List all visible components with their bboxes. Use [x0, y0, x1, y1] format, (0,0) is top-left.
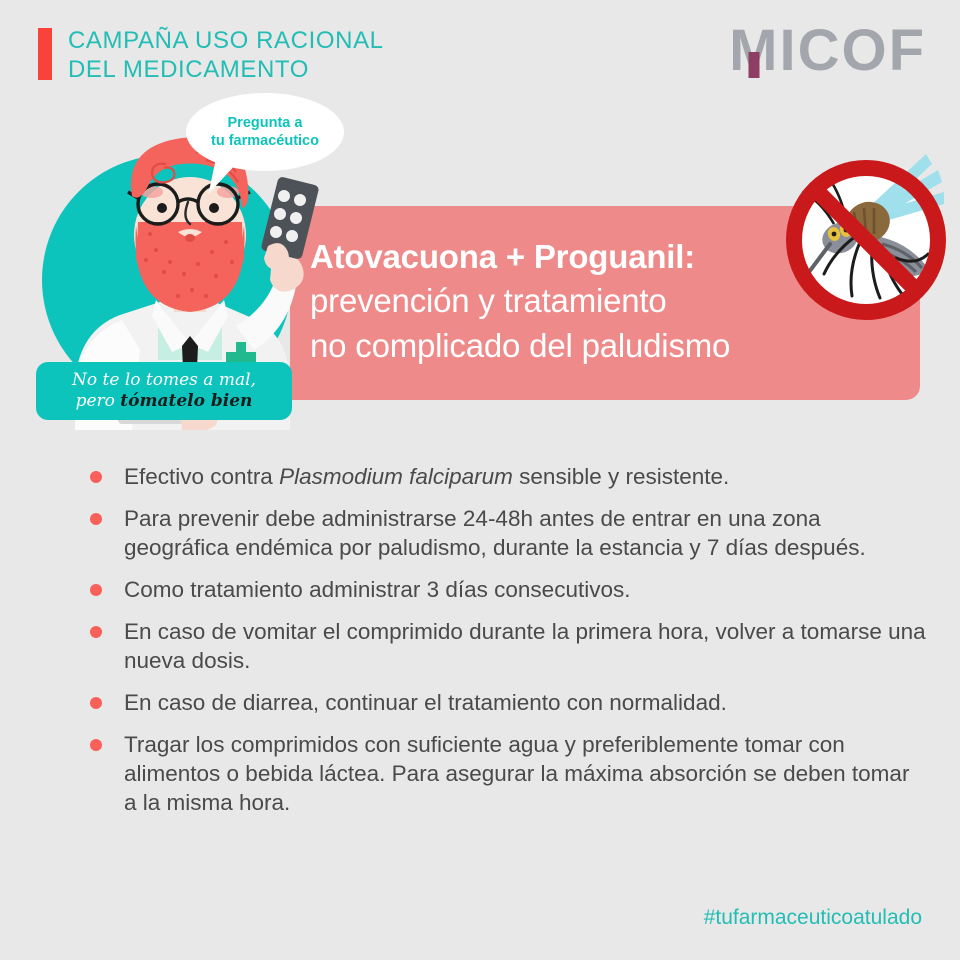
list-item: Como tratamiento administrar 3 días cons… — [86, 575, 926, 604]
header-accent-bar — [38, 28, 52, 80]
bullet-text-pre: Tragar los comprimidos con suficiente ag… — [124, 732, 909, 815]
list-item: Para prevenir debe administrarse 24-48h … — [86, 504, 926, 562]
bullet-dot-icon — [90, 739, 102, 751]
micof-logo-rest: ICOF — [779, 18, 926, 83]
tagline-banner: No te lo tomes a mal, pero tómatelo bien — [36, 362, 292, 420]
no-mosquito-svg — [776, 150, 956, 330]
bullet-text-pre: En caso de vomitar el comprimido durante… — [124, 619, 926, 673]
bullet-dot-icon — [90, 626, 102, 638]
bullet-dot-icon — [90, 471, 102, 483]
micof-logo: MICOF — [729, 20, 926, 82]
bullet-text-pre: Como tratamiento administrar 3 días cons… — [124, 577, 630, 602]
tagline-line2-strong: tómatelo bien — [120, 391, 252, 411]
campaign-title-line1: CAMPAÑA USO RACIONAL — [68, 26, 384, 55]
tagline-line2-prefix: pero — [76, 391, 121, 411]
micof-logo-purple-bar — [749, 52, 760, 78]
bullet-text-pre: Efectivo contra — [124, 464, 279, 489]
campaign-hashtag: #tufarmaceuticoatulado — [704, 906, 922, 930]
infographic-poster: CAMPAÑA USO RACIONAL DEL MEDICAMENTO MIC… — [0, 0, 960, 960]
tagline-line2: pero tómatelo bien — [76, 391, 253, 412]
speech-bubble-line2: tu farmacéutico — [211, 132, 319, 150]
micof-logo-text: MICOF — [729, 22, 926, 80]
no-mosquito-icon — [776, 150, 956, 330]
speech-bubble-text: Pregunta a tu farmacéutico — [211, 114, 319, 150]
campaign-title: CAMPAÑA USO RACIONAL DEL MEDICAMENTO — [68, 26, 384, 84]
bullet-list: Efectivo contra Plasmodium falciparum se… — [86, 462, 926, 830]
bullet-dot-icon — [90, 513, 102, 525]
list-item: En caso de vomitar el comprimido durante… — [86, 617, 926, 675]
bullet-dot-icon — [90, 584, 102, 596]
micof-logo-letter-m: M — [729, 22, 779, 80]
bullet-dot-icon — [90, 697, 102, 709]
bullet-text-italic: Plasmodium falciparum — [279, 464, 513, 489]
speech-bubble-line1: Pregunta a — [211, 114, 319, 132]
bullet-text-pre: En caso de diarrea, continuar el tratami… — [124, 690, 727, 715]
bullet-text-post: sensible y resistente. — [513, 464, 729, 489]
list-item: Efectivo contra Plasmodium falciparum se… — [86, 462, 926, 491]
tagline-line1: No te lo tomes a mal, — [72, 370, 256, 391]
list-item: Tragar los comprimidos con suficiente ag… — [86, 730, 926, 817]
bullet-text-pre: Para prevenir debe administrarse 24-48h … — [124, 506, 866, 560]
speech-bubble: Pregunta a tu farmacéutico — [186, 93, 344, 171]
list-item: En caso de diarrea, continuar el tratami… — [86, 688, 926, 717]
campaign-title-line2: DEL MEDICAMENTO — [68, 55, 384, 84]
